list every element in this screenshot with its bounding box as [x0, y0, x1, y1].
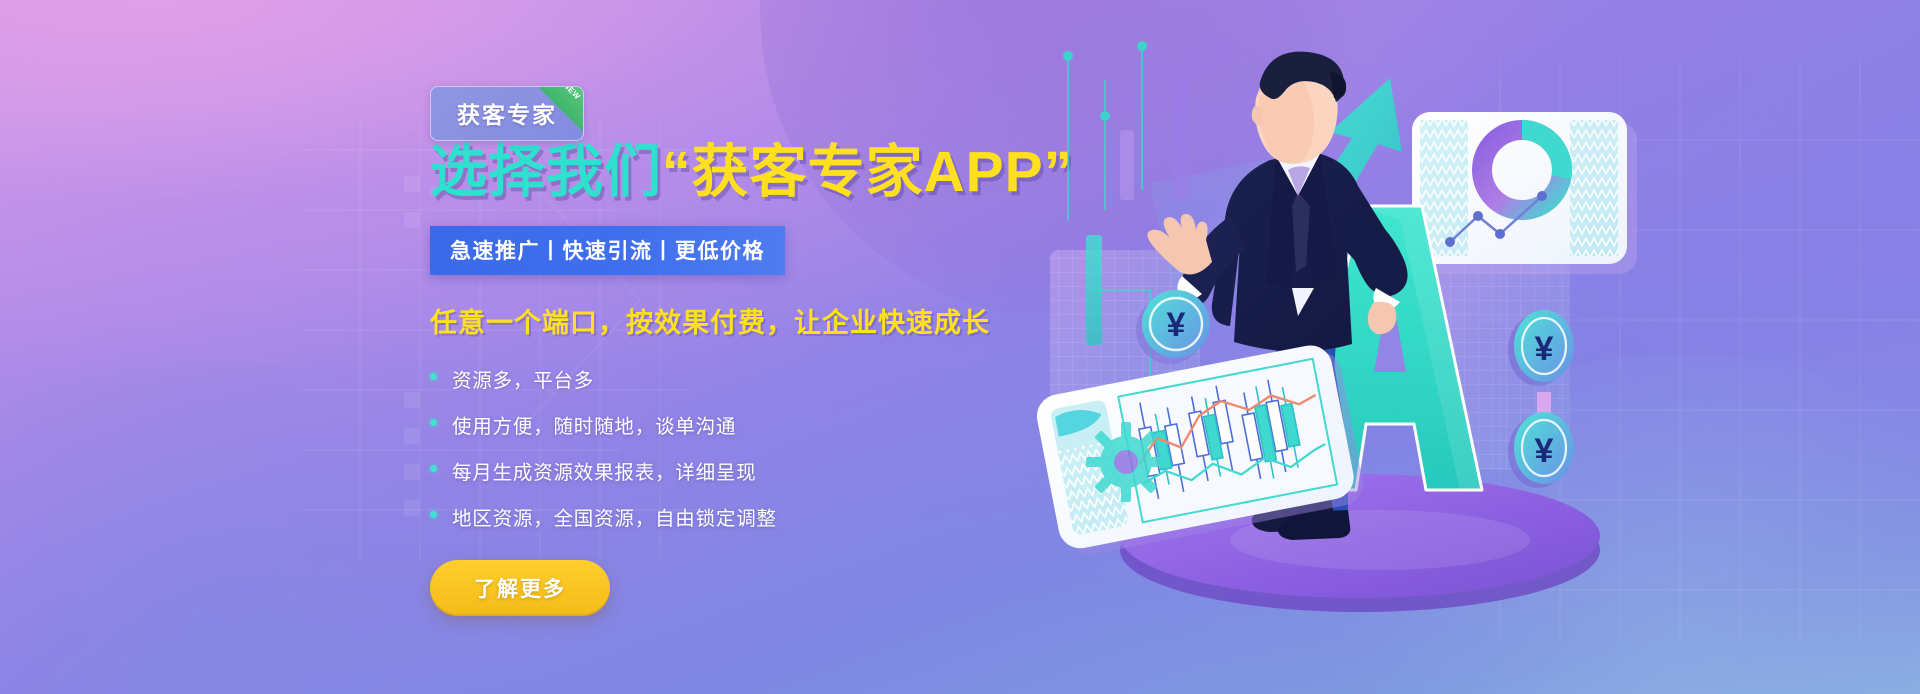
feature-tagline-text: 急速推广丨快速引流丨更低价格	[450, 240, 765, 263]
promo-banner: 获客专家 NEW 选择我们“获客专家APP” 急速推广丨快速引流丨更低价格 任意…	[0, 0, 1920, 694]
list-item-label: 地区资源，全国资源，自由锁定调整	[452, 508, 777, 530]
list-item-label: 每月生成资源效果报表，详细呈现	[452, 462, 757, 484]
bullet-dot-icon	[430, 419, 437, 426]
feature-tagline-bar: 急速推广丨快速引流丨更低价格	[430, 226, 785, 275]
gear-icon	[1086, 422, 1166, 502]
headline-accent: “获客专家APP”	[662, 140, 1073, 204]
product-badge-label: 获客专家	[457, 102, 557, 128]
yen-symbol-icon: ¥	[1167, 306, 1186, 344]
list-item-label: 使用方便，随时随地，谈单沟通	[452, 416, 736, 438]
hero-illustration: ¥ ¥ ¥	[1030, 20, 1690, 660]
headline-primary: 选择我们	[430, 140, 662, 204]
yen-symbol-icon: ¥	[1535, 330, 1554, 368]
bullet-dot-icon	[430, 373, 437, 380]
yen-symbol-icon: ¥	[1535, 432, 1554, 470]
new-ribbon-label: NEW	[561, 86, 582, 101]
donut-chart-card	[1412, 112, 1637, 274]
bullet-dot-icon	[430, 511, 437, 518]
learn-more-button[interactable]: 了解更多	[430, 560, 610, 616]
hero-illustration-svg: ¥ ¥ ¥	[1030, 20, 1690, 660]
bullet-dot-icon	[430, 465, 437, 472]
product-badge[interactable]: 获客专家 NEW	[430, 86, 584, 141]
list-item-label: 资源多，平台多	[452, 370, 594, 392]
